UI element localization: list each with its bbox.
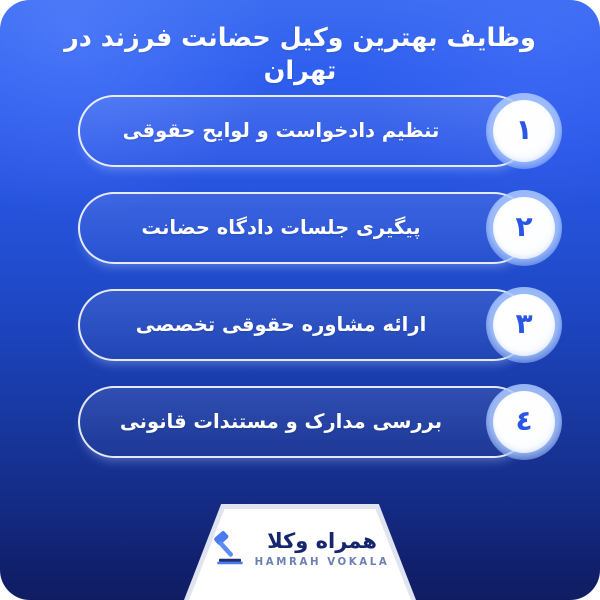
number-badge-value: ۲: [515, 213, 532, 243]
task-label: بررسی مدارک و مستندات قانونی: [80, 410, 528, 433]
number-badge-4: ٤: [493, 391, 555, 453]
number-badge-value: ٤: [515, 407, 532, 437]
brand-logo[interactable]: همراه وکلا HAMRAH VOKALA: [184, 527, 416, 571]
task-list: تنظیم دادخواست و لوایح حقوقی ۱ پیگیری جل…: [0, 95, 600, 464]
number-badge-ring-1: ۱: [486, 93, 562, 169]
brand-name-fa: همراه وکلا: [267, 530, 377, 552]
task-label: تنظیم دادخواست و لوایح حقوقی: [80, 119, 528, 142]
task-label: پیگیری جلسات دادگاه حضانت: [80, 216, 528, 239]
number-badge-3: ۳: [493, 294, 555, 356]
list-item: ارائه مشاوره حقوقی تخصصی ۳: [0, 289, 600, 367]
list-item: تنظیم دادخواست و لوایح حقوقی ۱: [0, 95, 600, 173]
task-pill-2[interactable]: پیگیری جلسات دادگاه حضانت: [78, 192, 530, 264]
infographic-poster: وظایف بهترین وکیل حضانت فرزند در تهران ت…: [0, 0, 600, 600]
list-item: پیگیری جلسات دادگاه حضانت ۲: [0, 192, 600, 270]
gavel-icon: [211, 527, 247, 571]
task-pill-1[interactable]: تنظیم دادخواست و لوایح حقوقی: [78, 95, 530, 167]
number-badge-value: ۳: [515, 310, 532, 340]
number-badge-ring-2: ۲: [486, 190, 562, 266]
number-badge-value: ۱: [515, 116, 532, 146]
logo-plaque: همراه وکلا HAMRAH VOKALA: [184, 504, 416, 600]
number-badge-ring-4: ٤: [486, 384, 562, 460]
list-item: بررسی مدارک و مستندات قانونی ٤: [0, 386, 600, 464]
number-badge-1: ۱: [493, 100, 555, 162]
brand-name-en: HAMRAH VOKALA: [255, 557, 390, 568]
task-pill-3[interactable]: ارائه مشاوره حقوقی تخصصی: [78, 289, 530, 361]
number-badge-ring-3: ۳: [486, 287, 562, 363]
task-pill-4[interactable]: بررسی مدارک و مستندات قانونی: [78, 386, 530, 458]
number-badge-2: ۲: [493, 197, 555, 259]
page-title: وظایف بهترین وکیل حضانت فرزند در تهران: [24, 22, 576, 87]
brand-logo-texts: همراه وکلا HAMRAH VOKALA: [255, 530, 390, 567]
task-label: ارائه مشاوره حقوقی تخصصی: [80, 313, 528, 336]
